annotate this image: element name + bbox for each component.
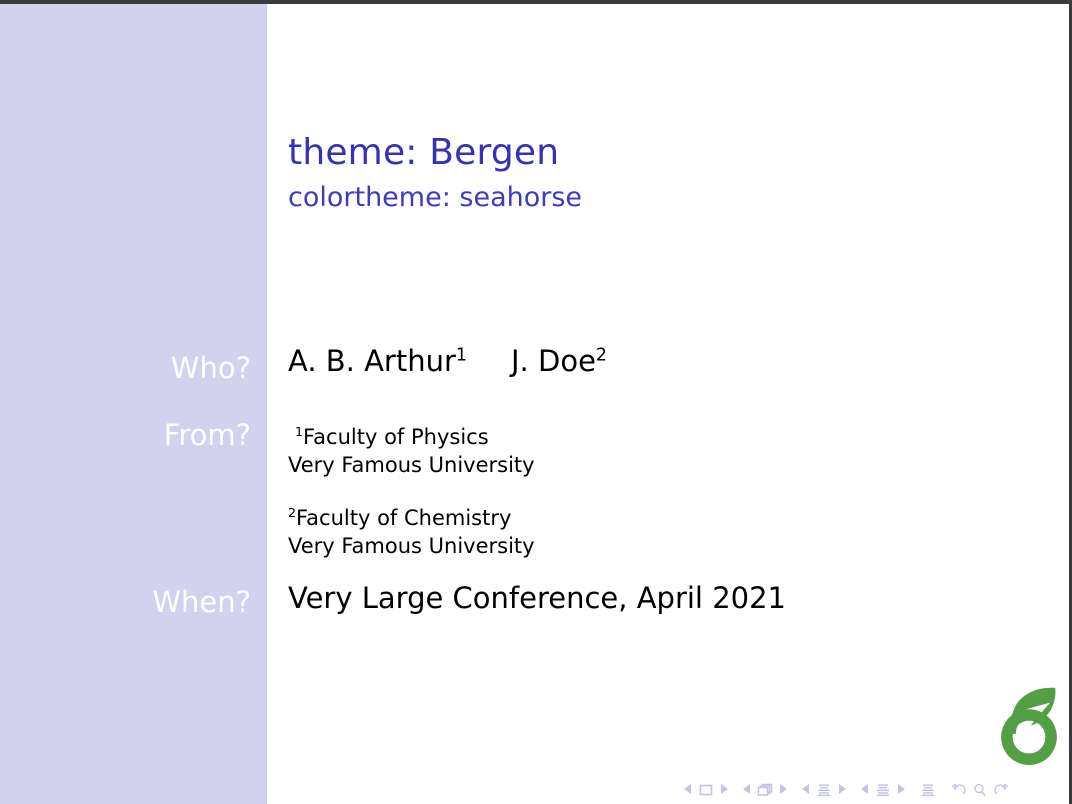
affiliation-1-department: Faculty of Physics — [303, 425, 489, 449]
slide-content: theme: Bergen colortheme: seahorse A. B.… — [288, 0, 1048, 804]
nav-prev-slide-icon[interactable] — [684, 784, 691, 794]
nav-group-subsection[interactable] — [802, 782, 846, 796]
sidebar-label-when: When? — [11, 588, 251, 617]
author-list: A. B. Arthur1J. Doe2 — [288, 346, 607, 378]
presentation-lines-icon[interactable] — [920, 782, 936, 796]
section-lines-icon[interactable] — [875, 782, 891, 796]
nav-prev-section-icon[interactable] — [861, 784, 868, 794]
slide-date: Very Large Conference, April 2021 — [288, 583, 786, 615]
nav-group-actions[interactable] — [951, 782, 1009, 796]
author-name-2: J. Doe — [511, 344, 596, 378]
affiliation-2: 2Faculty of Chemistry Very Famous Univer… — [288, 505, 535, 561]
nav-group-slide[interactable] — [684, 782, 728, 796]
affiliation-1-department-line: 1Faculty of Physics — [288, 424, 535, 452]
slide-title: theme: Bergen — [288, 133, 559, 173]
beamer-navigation-symbols[interactable] — [684, 779, 1009, 799]
slide-square-icon[interactable] — [698, 782, 714, 796]
sidebar-label-from: From? — [11, 421, 251, 450]
sidebar-label-who: Who? — [11, 354, 251, 383]
nav-next-subsection-icon[interactable] — [839, 784, 846, 794]
nav-next-slide-icon[interactable] — [721, 784, 728, 794]
author-name-1: A. B. Arthur — [288, 344, 456, 378]
nav-group-presentation[interactable] — [920, 782, 936, 796]
affiliation-1-institution: Very Famous University — [288, 452, 535, 480]
nav-next-frame-icon[interactable] — [780, 784, 787, 794]
affiliation-2-department-line: 2Faculty of Chemistry — [288, 505, 535, 533]
beamer-slide: Who? From? When? theme: Bergen colorthem… — [0, 0, 1072, 804]
slide-subtitle: colortheme: seahorse — [288, 183, 582, 213]
affiliation-2-institution: Very Famous University — [288, 533, 535, 561]
nav-prev-subsection-icon[interactable] — [802, 784, 809, 794]
nav-prev-frame-icon[interactable] — [743, 784, 750, 794]
nav-next-section-icon[interactable] — [898, 784, 905, 794]
back-icon[interactable] — [951, 782, 967, 796]
affiliation-mark-1: 1 — [295, 424, 303, 439]
search-icon[interactable] — [972, 782, 988, 796]
affiliation-2-department: Faculty of Chemistry — [296, 506, 511, 530]
forward-icon[interactable] — [993, 782, 1009, 796]
beamer-sidebar: Who? From? When? — [0, 4, 267, 804]
affiliation-1: 1Faculty of Physics Very Famous Universi… — [288, 424, 535, 480]
nav-group-frame[interactable] — [743, 782, 787, 796]
author-mark-2: 2 — [596, 345, 607, 365]
nav-group-section[interactable] — [861, 782, 905, 796]
frame-stacked-squares-icon[interactable] — [757, 782, 773, 796]
affiliation-mark-2: 2 — [288, 505, 296, 520]
author-mark-1: 1 — [456, 345, 467, 365]
subsection-lines-icon[interactable] — [816, 782, 832, 796]
overleaf-logo — [988, 678, 1070, 770]
